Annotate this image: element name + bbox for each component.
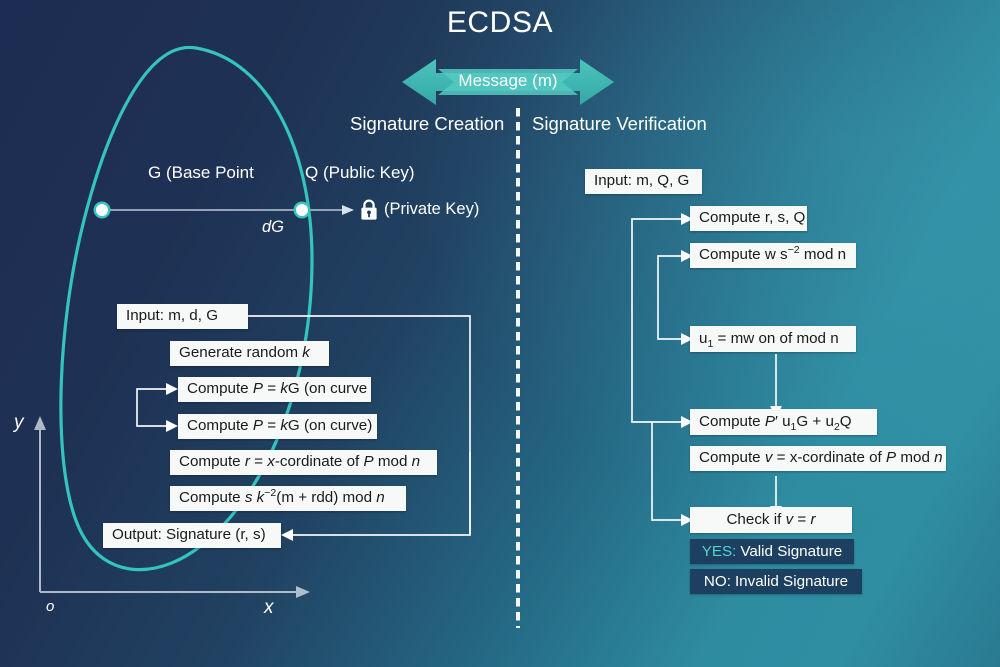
message-arrow: Message (m) <box>402 56 614 108</box>
verification-step-compute-v-label: Compute v = x-cordinate of P mod n <box>699 450 943 465</box>
verification-step-compute-p-prime-label: Compute P′ u1G + u2Q <box>699 414 852 429</box>
result-invalid-text: Invalid Signature <box>735 573 848 590</box>
message-arrow-label: Message (m) <box>402 56 614 108</box>
verification-step-compute-p-prime[interactable]: Compute P′ u1G + u2Q <box>690 409 877 435</box>
result-valid-key: YES: <box>702 543 737 560</box>
verification-step-compute-w[interactable]: Compute w s−2 mod n <box>690 243 856 268</box>
result-valid-text: Valid Signature <box>740 543 842 560</box>
verification-step-compute-u1-label: u1 = mw on of mod n <box>699 331 839 346</box>
verification-step-compute-u1[interactable]: u1 = mw on of mod n <box>690 326 856 352</box>
verification-step-rsq-label: Compute r, s, Q <box>699 210 805 225</box>
verification-step-check-label: Check if v = r <box>726 512 815 527</box>
result-valid-signature[interactable]: YES: Valid Signature <box>690 539 854 564</box>
result-invalid-signature[interactable]: NO: Invalid Signature <box>690 569 862 594</box>
ecdsa-diagram: ECDSA Message (m) Signature Creation Sig… <box>0 0 1000 667</box>
result-invalid-key: NO: <box>704 573 731 590</box>
verification-step-rsq[interactable]: Compute r, s, Q <box>690 206 807 231</box>
verification-step-compute-v[interactable]: Compute v = x-cordinate of P mod n <box>690 446 946 471</box>
verification-step-compute-w-label: Compute w s−2 mod n <box>699 247 846 262</box>
verification-step-input[interactable]: Input: m, Q, G <box>585 169 702 194</box>
verification-step-input-label: Input: m, Q, G <box>594 173 689 188</box>
verification-step-check[interactable]: Check if v = r <box>690 507 852 533</box>
